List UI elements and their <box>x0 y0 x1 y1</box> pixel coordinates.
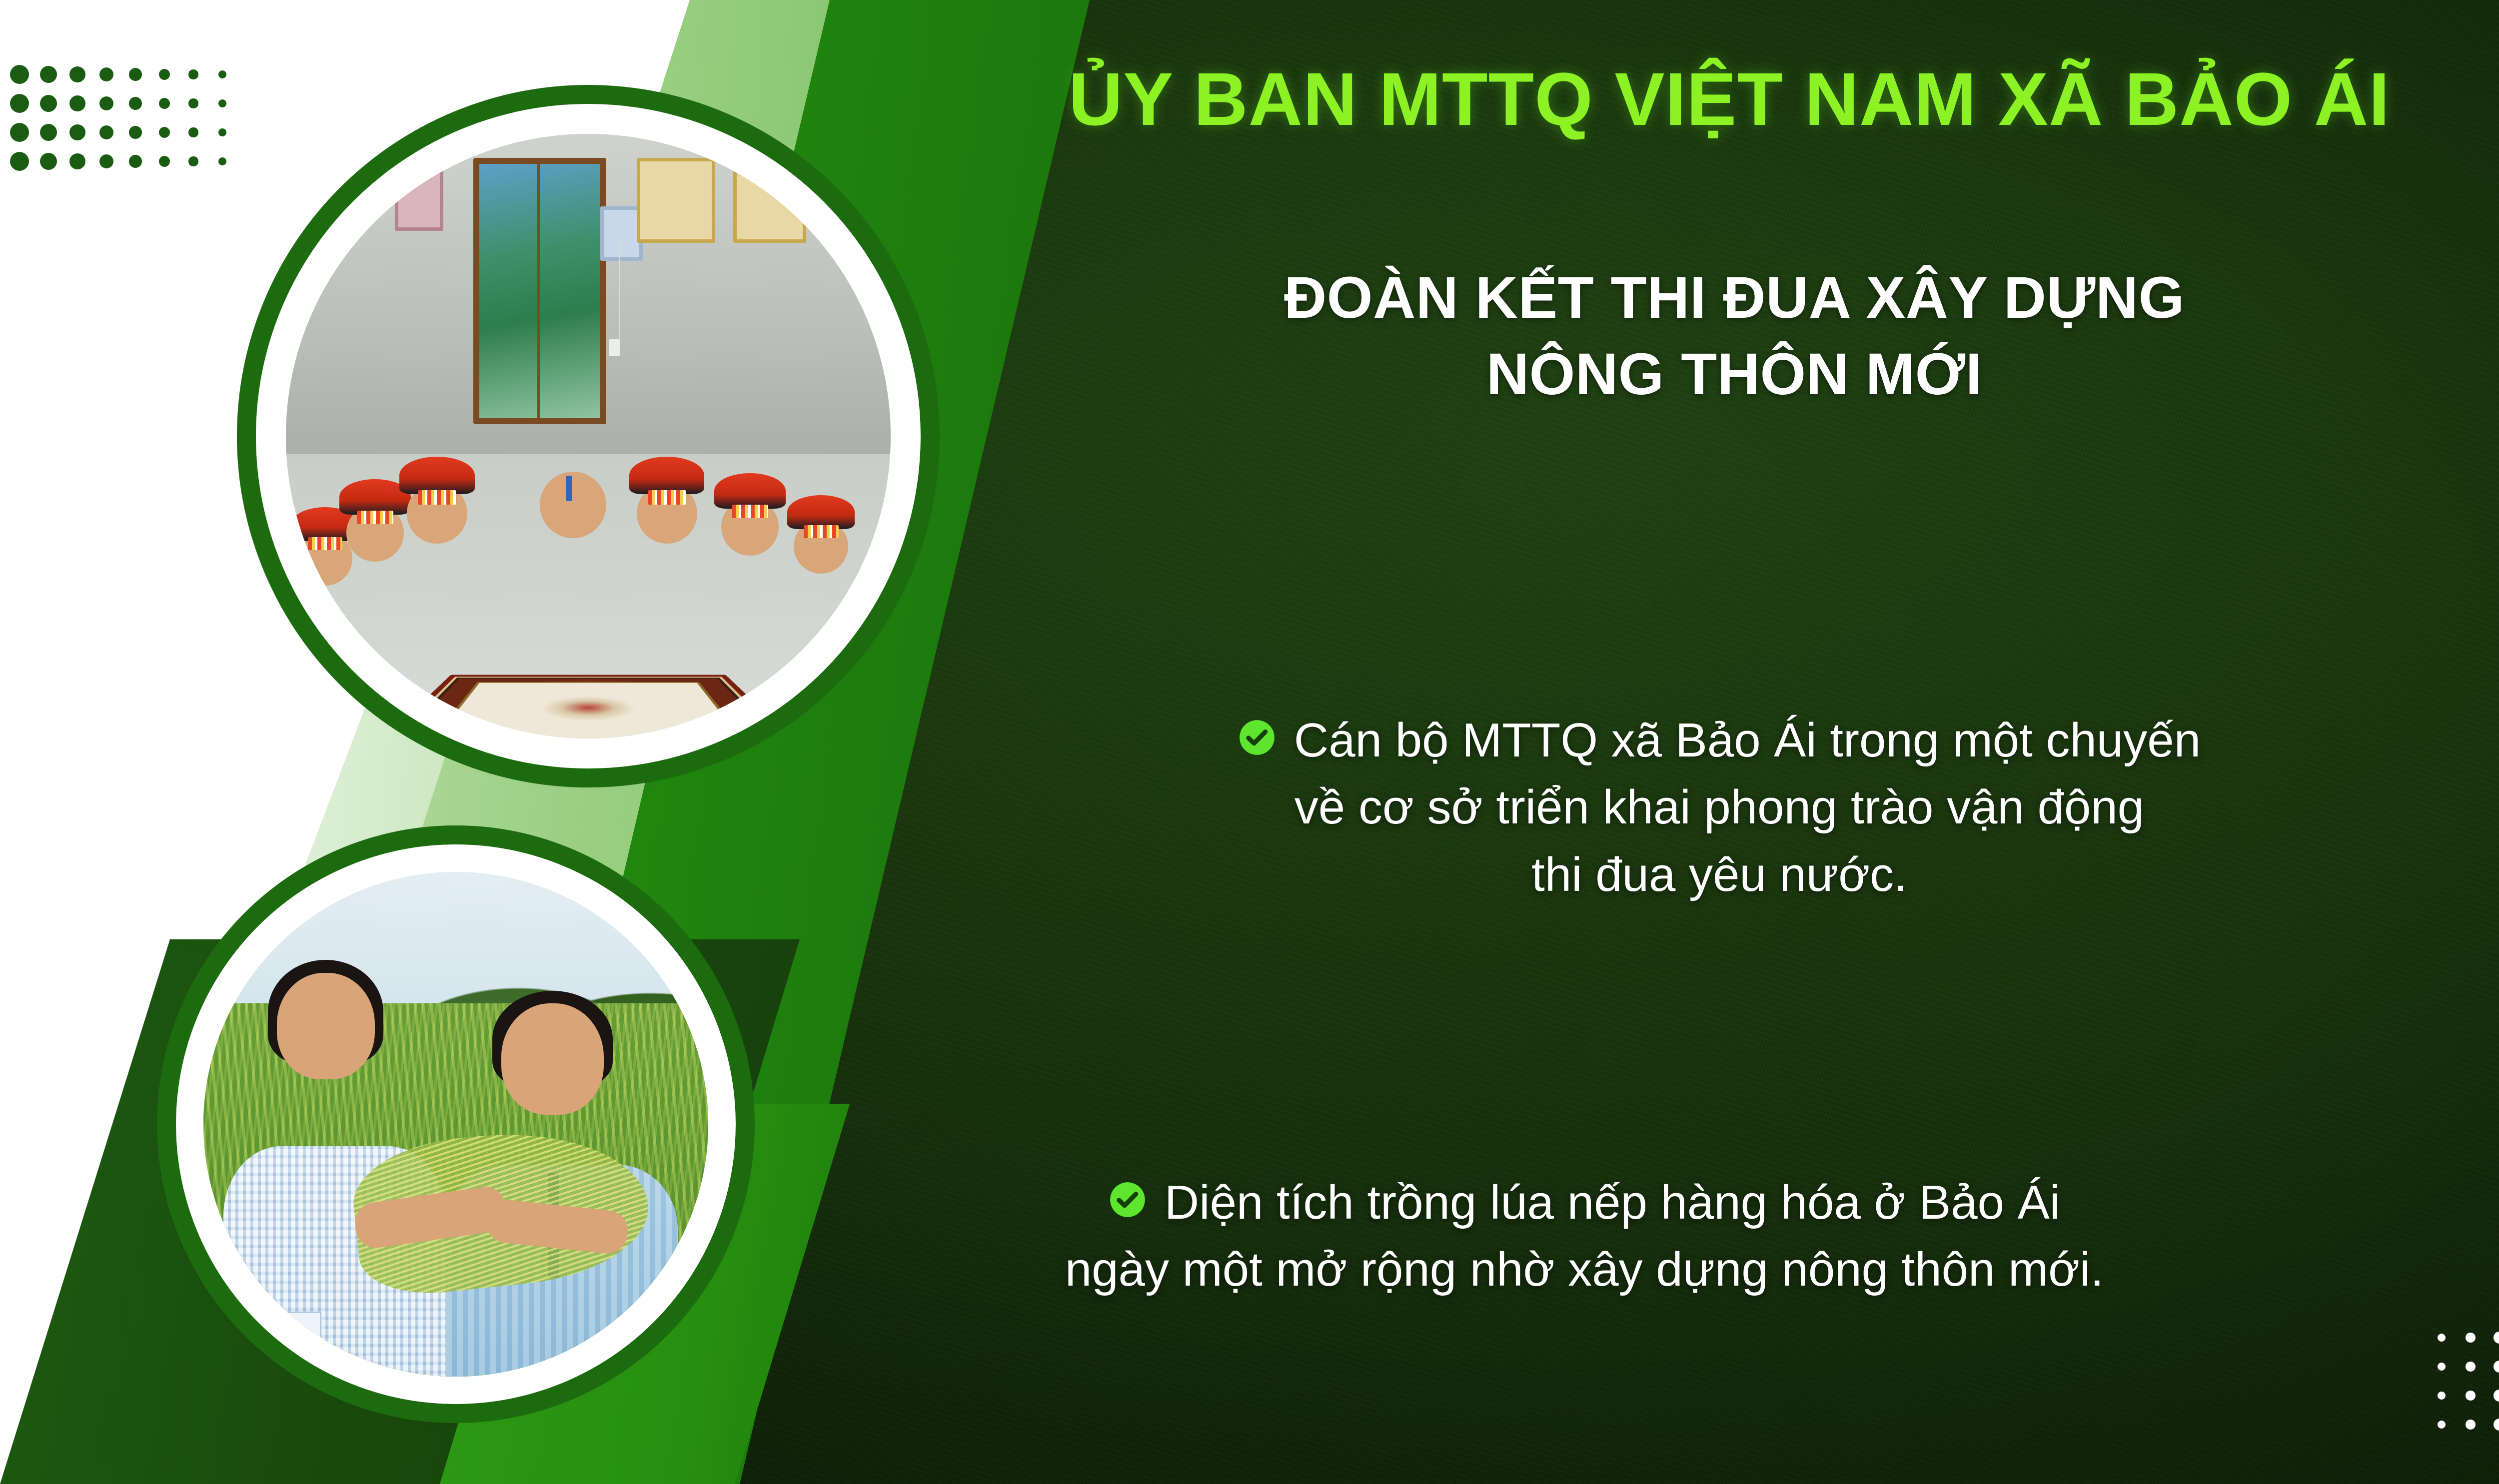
caption-1-line-3: thi đua yêu nước. <box>940 841 2499 908</box>
photo-meeting-image <box>286 134 891 739</box>
decor-dot <box>218 128 226 136</box>
caption-block-1: Cán bộ MTTQ xã Bảo Ái trong một chuyến v… <box>940 707 2499 908</box>
decor-dot <box>129 155 141 167</box>
decor-dot <box>69 153 85 169</box>
decor-dot <box>2466 1333 2476 1343</box>
photo-rice-field-circle <box>176 844 736 1404</box>
decor-dot <box>159 156 170 167</box>
decor-dot <box>2466 1362 2476 1372</box>
decor-dot <box>10 65 29 84</box>
photo-meeting-circle <box>256 104 921 768</box>
caption-2-line-2: ngày một mở rộng nhờ xây dựng nông thôn … <box>695 1236 2474 1303</box>
decor-dot <box>40 66 57 83</box>
poster-canvas: ỦY BAN MTTQ VIỆT NAM XÃ BẢO ÁI ĐOÀN KẾT … <box>0 0 2499 1484</box>
caption-block-2: Diện tích trồng lúa nếp hàng hóa ở Bảo Á… <box>695 1169 2474 1304</box>
decor-dot <box>40 153 57 170</box>
subtitle-line-1: ĐOÀN KẾT THI ĐUA XÂY DỰNG <box>1284 265 2185 331</box>
caption-1-line-1: Cán bộ MTTQ xã Bảo Ái trong một chuyến <box>1294 707 2201 774</box>
decor-dot <box>188 69 198 79</box>
decor-dot <box>159 127 170 138</box>
decor-dot <box>2438 1392 2446 1400</box>
caption-2-line-1: Diện tích trồng lúa nếp hàng hóa ở Bảo Á… <box>1165 1169 2060 1236</box>
decor-dot <box>218 70 226 78</box>
decor-dot <box>129 68 141 80</box>
decor-dot <box>188 156 198 166</box>
decor-dot <box>69 124 85 140</box>
decor-dot <box>2494 1361 2499 1372</box>
decor-dot <box>10 94 29 113</box>
decor-dot <box>2438 1334 2446 1342</box>
photo-rice-field-image <box>203 872 708 1377</box>
page-subtitle: ĐOÀN KẾT THI ĐUA XÂY DỰNG NÔNG THÔN MỚI <box>940 260 2499 413</box>
subtitle-line-2: NÔNG THÔN MỚI <box>940 336 2499 413</box>
decor-dot <box>2466 1420 2476 1430</box>
decor-dot <box>99 96 114 111</box>
caption-1-line-2: về cơ sở triển khai phong trào vận động <box>940 774 2499 841</box>
dot-grid-top-left <box>5 60 237 176</box>
decor-dot <box>2438 1421 2446 1429</box>
decor-dot <box>188 127 198 137</box>
decor-dot <box>2466 1391 2476 1401</box>
dot-grid-bottom-right <box>2427 1323 2499 1439</box>
decor-dot <box>2494 1419 2499 1430</box>
decor-dot <box>129 97 141 109</box>
decor-dot <box>159 69 170 80</box>
decor-dot <box>99 154 114 169</box>
decor-dot <box>159 98 170 109</box>
decor-dot <box>10 152 29 171</box>
decor-dot <box>2494 1390 2499 1401</box>
decor-dot <box>40 124 57 141</box>
decor-dot <box>2494 1332 2499 1343</box>
decor-dot <box>218 157 226 165</box>
page-title: ỦY BAN MTTQ VIỆT NAM XÃ BẢO ÁI <box>840 60 2499 139</box>
decor-dot <box>69 95 85 111</box>
decor-dot <box>129 126 141 138</box>
decor-dot <box>10 123 29 142</box>
check-circle-icon <box>1109 1169 1147 1236</box>
decor-dot <box>99 125 114 140</box>
decor-dot <box>2438 1363 2446 1371</box>
decor-dot <box>69 66 85 82</box>
decor-dot <box>99 67 114 82</box>
decor-dot <box>218 99 226 107</box>
check-circle-icon <box>1238 707 1276 774</box>
decor-dot <box>188 98 198 108</box>
decor-dot <box>40 95 57 112</box>
